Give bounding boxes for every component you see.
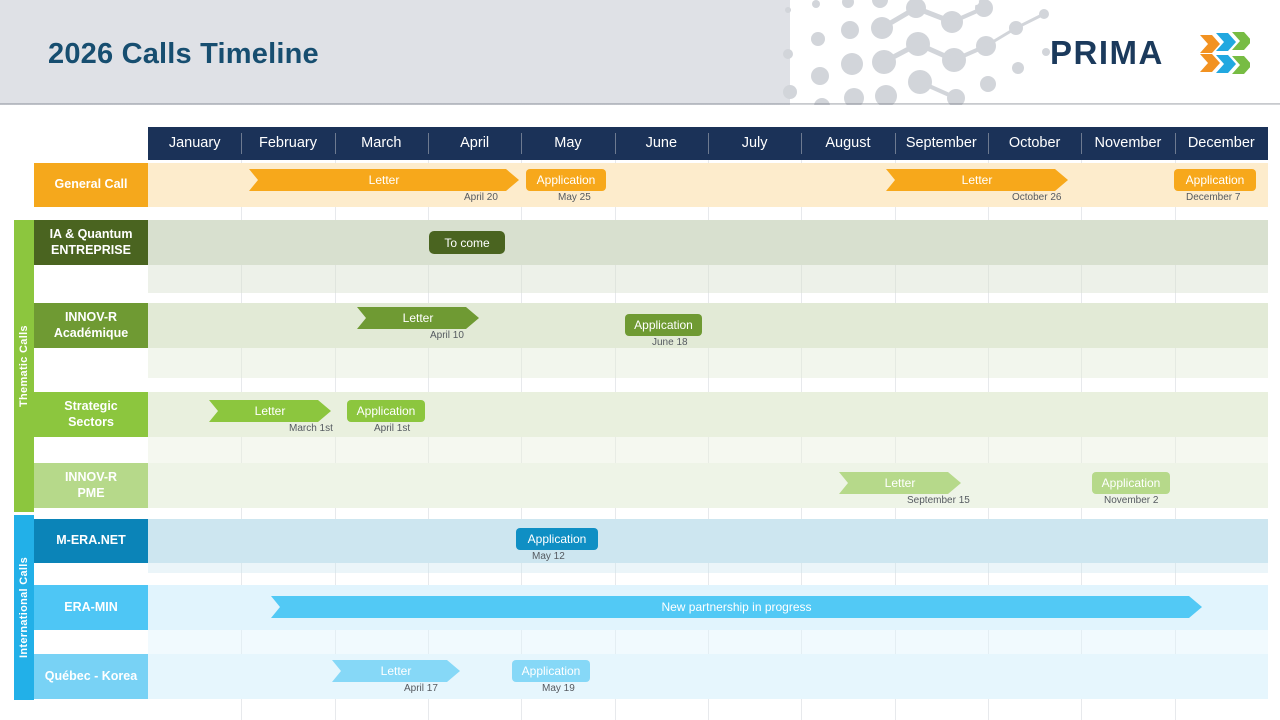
row-label-era-min: ERA-MIN bbox=[34, 585, 148, 630]
date-strategic-sectors-letter: March 1st bbox=[289, 423, 333, 434]
bar-label: Application bbox=[357, 404, 416, 418]
row-label-text: ERA-MIN bbox=[64, 600, 117, 616]
row-band-m-era-net bbox=[148, 519, 1268, 563]
date-quebec-korea-letter: April 17 bbox=[404, 683, 438, 694]
date-general-call-application-1: May 25 bbox=[558, 192, 591, 203]
row-label-text: IA & Quantum ENTREPRISE bbox=[50, 227, 133, 258]
bar-era-min-partnership[interactable]: New partnership in progress bbox=[271, 596, 1202, 618]
timeline-row-quebec-korea[interactable]: Québec - Korea Letter April 17 Applicati… bbox=[34, 654, 1268, 699]
month-header-may: May bbox=[521, 127, 614, 160]
bar-label: To come bbox=[444, 236, 489, 250]
bar-label: Letter bbox=[255, 404, 286, 418]
month-header-february: February bbox=[241, 127, 334, 160]
month-header-row: JanuaryFebruaryMarchAprilMayJuneJulyAugu… bbox=[148, 127, 1268, 160]
page-header: 2026 Calls Timeline PRIMA bbox=[0, 0, 1280, 105]
page-title: 2026 Calls Timeline bbox=[48, 38, 319, 71]
bar-general-call-letter-2[interactable]: Letter bbox=[886, 169, 1068, 191]
date-innov-r-academique-letter: April 10 bbox=[430, 330, 464, 341]
timeline-row-ia-quantum-entreprise[interactable]: IA & Quantum ENTREPRISE To come bbox=[34, 220, 1268, 265]
bar-ia-quantum-to-come[interactable]: To come bbox=[429, 231, 505, 254]
row-label-ia-quantum-entreprise: IA & Quantum ENTREPRISE bbox=[34, 220, 148, 265]
row-label-text: Québec - Korea bbox=[45, 669, 137, 685]
row-spacer-m-era-net bbox=[148, 563, 1268, 573]
bar-label: Application bbox=[1186, 173, 1245, 187]
row-label-innov-r-pme: INNOV-R PME bbox=[34, 463, 148, 508]
timeline-row-innov-r-pme[interactable]: INNOV-R PME Letter September 15 Applicat… bbox=[34, 463, 1268, 508]
row-spacer-innov-r-academique bbox=[148, 348, 1268, 378]
row-label-innov-r-academique: INNOV-R Académique bbox=[34, 303, 148, 348]
row-spacer-era-min bbox=[148, 630, 1268, 654]
group-rail-thematic-label: Thematic Calls bbox=[18, 325, 30, 407]
bar-label: Letter bbox=[403, 311, 434, 325]
row-label-general-call: General Call bbox=[34, 163, 148, 207]
row-label-line2: Académique bbox=[54, 326, 128, 340]
month-header-july: July bbox=[708, 127, 801, 160]
timeline-row-innov-r-academique[interactable]: INNOV-R Académique Letter April 10 Appli… bbox=[34, 303, 1268, 348]
bar-label: Letter bbox=[381, 664, 412, 678]
row-label-text: Strategic Sectors bbox=[64, 399, 118, 430]
row-label-text: General Call bbox=[55, 177, 128, 193]
row-label-line1: INNOV-R bbox=[65, 310, 117, 324]
bar-general-call-application-1[interactable]: Application bbox=[526, 169, 606, 191]
row-label-line1: INNOV-R bbox=[65, 470, 117, 484]
month-header-march: March bbox=[335, 127, 428, 160]
prima-chevrons-logo-icon bbox=[1198, 30, 1250, 76]
row-band-quebec-korea bbox=[148, 654, 1268, 699]
date-general-call-letter-2: October 26 bbox=[1012, 192, 1061, 203]
bar-innov-r-pme-application[interactable]: Application bbox=[1092, 472, 1170, 494]
date-quebec-korea-application: May 19 bbox=[542, 683, 575, 694]
month-header-january: January bbox=[148, 127, 241, 160]
date-general-call-letter-1: April 20 bbox=[464, 192, 498, 203]
timeline-row-m-era-net[interactable]: M-ERA.NET Application May 12 bbox=[34, 519, 1268, 563]
bar-quebec-korea-application[interactable]: Application bbox=[512, 660, 590, 682]
row-label-line1: Strategic bbox=[64, 399, 118, 413]
bar-label: Application bbox=[537, 173, 596, 187]
bar-quebec-korea-letter[interactable]: Letter bbox=[332, 660, 460, 682]
bar-general-call-application-2[interactable]: Application bbox=[1174, 169, 1256, 191]
row-label-line1: IA & Quantum bbox=[50, 227, 133, 241]
timeline-row-general-call[interactable]: General Call Letter April 20 Application… bbox=[34, 163, 1268, 207]
month-header-september: September bbox=[895, 127, 988, 160]
bar-label: Letter bbox=[962, 173, 993, 187]
date-strategic-sectors-application: April 1st bbox=[374, 423, 410, 434]
bar-innov-r-academique-letter[interactable]: Letter bbox=[357, 307, 479, 329]
row-label-text: INNOV-R Académique bbox=[54, 310, 128, 341]
row-spacer-ia-quantum bbox=[148, 265, 1268, 293]
bar-label: Application bbox=[528, 532, 587, 546]
row-label-strategic-sectors: Strategic Sectors bbox=[34, 392, 148, 437]
month-header-october: October bbox=[988, 127, 1081, 160]
date-innov-r-pme-application: November 2 bbox=[1104, 495, 1158, 506]
bar-innov-r-academique-application[interactable]: Application bbox=[625, 314, 702, 336]
month-header-august: August bbox=[801, 127, 894, 160]
row-spacer-strategic-sectors bbox=[148, 437, 1268, 465]
timeline-chart: JanuaryFebruaryMarchAprilMayJuneJulyAugu… bbox=[0, 105, 1280, 720]
bar-general-call-letter-1[interactable]: Letter bbox=[249, 169, 519, 191]
bar-label: Application bbox=[634, 318, 693, 332]
row-band-ia-quantum-entreprise bbox=[148, 220, 1268, 265]
row-label-line2: Sectors bbox=[68, 415, 114, 429]
bar-label: Application bbox=[522, 664, 581, 678]
row-label-quebec-korea: Québec - Korea bbox=[34, 654, 148, 699]
row-label-line2: ENTREPRISE bbox=[51, 243, 131, 257]
bar-label: Letter bbox=[885, 476, 916, 490]
bar-strategic-sectors-application[interactable]: Application bbox=[347, 400, 425, 422]
month-header-june: June bbox=[615, 127, 708, 160]
group-rail-international: International Calls bbox=[14, 515, 34, 700]
group-rail-thematic: Thematic Calls bbox=[14, 220, 34, 512]
row-band-innov-r-academique bbox=[148, 303, 1268, 348]
bar-innov-r-pme-letter[interactable]: Letter bbox=[839, 472, 961, 494]
row-label-m-era-net: M-ERA.NET bbox=[34, 519, 148, 563]
bar-label: New partnership in progress bbox=[661, 600, 811, 614]
month-header-december: December bbox=[1175, 127, 1268, 160]
date-innov-r-pme-letter: September 15 bbox=[907, 495, 970, 506]
decorative-dots-pattern bbox=[770, 0, 1070, 105]
row-label-line2: PME bbox=[77, 486, 104, 500]
bar-m-era-net-application[interactable]: Application bbox=[516, 528, 598, 550]
month-header-april: April bbox=[428, 127, 521, 160]
date-general-call-application-2: December 7 bbox=[1186, 192, 1240, 203]
timeline-row-era-min[interactable]: ERA-MIN New partnership in progress bbox=[34, 585, 1268, 630]
month-header-november: November bbox=[1081, 127, 1174, 160]
logo-wordmark: PRIMA bbox=[1050, 34, 1164, 72]
prima-logo: PRIMA bbox=[1050, 30, 1250, 78]
group-rail-international-label: International Calls bbox=[18, 557, 30, 658]
date-innov-r-academique-application: June 18 bbox=[652, 337, 688, 348]
date-m-era-net-application: May 12 bbox=[532, 551, 565, 562]
bar-strategic-sectors-letter[interactable]: Letter bbox=[209, 400, 331, 422]
timeline-row-strategic-sectors[interactable]: Strategic Sectors Letter March 1st Appli… bbox=[34, 392, 1268, 437]
row-label-text: M-ERA.NET bbox=[56, 533, 125, 549]
bar-label: Letter bbox=[369, 173, 400, 187]
row-label-text: INNOV-R PME bbox=[65, 470, 117, 501]
bar-label: Application bbox=[1102, 476, 1161, 490]
